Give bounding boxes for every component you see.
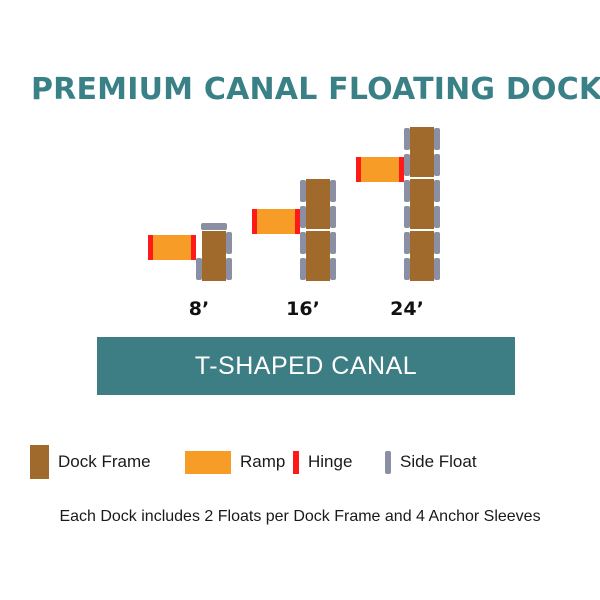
side-float bbox=[404, 206, 410, 228]
side-float bbox=[300, 258, 306, 280]
side-float-swatch-icon bbox=[385, 451, 391, 474]
dock-size-label-8: 8’ bbox=[159, 298, 239, 320]
banner-label: T-SHAPED CANAL bbox=[195, 352, 417, 381]
infographic-page: PREMIUM CANAL FLOATING DOCKS 8’ bbox=[0, 0, 600, 600]
side-float bbox=[434, 128, 440, 150]
side-float bbox=[404, 180, 410, 202]
dock-frame-swatch-icon bbox=[30, 445, 49, 479]
legend-label-dock-frame: Dock Frame bbox=[58, 452, 151, 472]
dock-diagram-group: 8’ 16’ bbox=[0, 130, 600, 320]
hinge-left-8 bbox=[148, 235, 153, 260]
frame-segment bbox=[305, 230, 331, 282]
side-float bbox=[330, 258, 336, 280]
side-float bbox=[330, 206, 336, 228]
legend-item-dock-frame: Dock Frame bbox=[30, 443, 151, 481]
ramp-24 bbox=[356, 157, 404, 182]
frame-segment bbox=[409, 126, 435, 178]
ramp-8 bbox=[148, 235, 196, 260]
legend-item-ramp: Ramp bbox=[185, 443, 285, 481]
side-float bbox=[300, 206, 306, 228]
ramp-16 bbox=[252, 209, 300, 234]
side-float bbox=[330, 232, 336, 254]
frame-segment bbox=[201, 230, 227, 282]
frame-segment bbox=[305, 178, 331, 230]
frame-column-16 bbox=[300, 178, 336, 282]
side-float bbox=[201, 223, 227, 230]
side-float bbox=[434, 206, 440, 228]
side-float bbox=[300, 180, 306, 202]
legend-label-side-float: Side Float bbox=[400, 452, 477, 472]
side-float bbox=[404, 258, 410, 280]
side-float bbox=[434, 258, 440, 280]
ramp-swatch-icon bbox=[185, 451, 231, 474]
side-float bbox=[330, 180, 336, 202]
side-float bbox=[434, 232, 440, 254]
footnote-text: Each Dock includes 2 Floats per Dock Fra… bbox=[0, 508, 600, 526]
legend: Dock Frame Ramp Hinge Side Float bbox=[30, 443, 570, 481]
side-float bbox=[300, 232, 306, 254]
side-float bbox=[226, 258, 232, 280]
side-float bbox=[404, 128, 410, 150]
frame-column-24 bbox=[404, 126, 440, 282]
frame-segment bbox=[409, 230, 435, 282]
hinge-left-24 bbox=[356, 157, 361, 182]
dock-size-label-24: 24’ bbox=[367, 298, 447, 320]
side-float bbox=[434, 180, 440, 202]
frame-segment bbox=[409, 178, 435, 230]
legend-label-ramp: Ramp bbox=[240, 452, 285, 472]
frame-column-8 bbox=[196, 230, 232, 282]
side-float bbox=[404, 232, 410, 254]
legend-item-side-float: Side Float bbox=[385, 443, 477, 481]
side-float bbox=[404, 154, 410, 176]
page-title: PREMIUM CANAL FLOATING DOCKS bbox=[31, 72, 576, 107]
legend-item-hinge: Hinge bbox=[293, 443, 352, 481]
banner-t-shaped-canal: T-SHAPED CANAL bbox=[97, 337, 515, 395]
side-float bbox=[434, 154, 440, 176]
side-float bbox=[196, 258, 202, 280]
legend-label-hinge: Hinge bbox=[308, 452, 352, 472]
dock-size-label-16: 16’ bbox=[263, 298, 343, 320]
hinge-left-16 bbox=[252, 209, 257, 234]
side-float bbox=[226, 232, 232, 254]
hinge-swatch-icon bbox=[293, 451, 299, 474]
